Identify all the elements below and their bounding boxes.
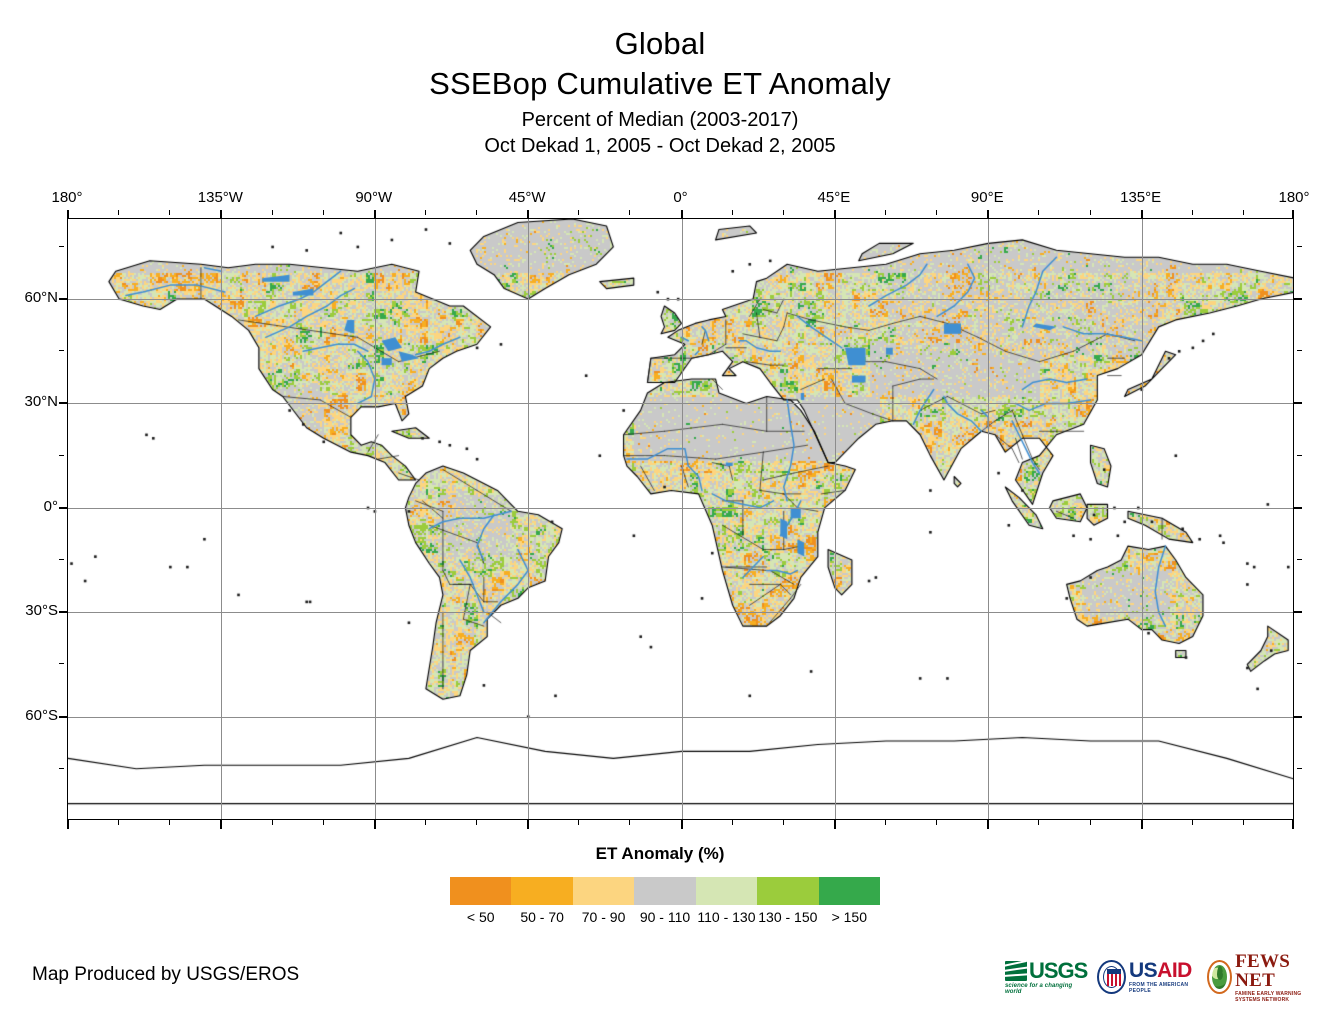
usaid-wordmark-aid: AID (1157, 959, 1192, 982)
legend-label: 70 - 90 (582, 907, 626, 927)
legend-swatch (696, 877, 757, 905)
legend-label: < 50 (467, 907, 495, 927)
legend: ET Anomaly (%) < 5050 - 7070 - 9090 - 11… (0, 843, 1320, 865)
map-ticks-left (59, 218, 67, 820)
fews-net-logo: FEWS NET FAMINE EARLY WARNING SYSTEMS NE… (1207, 952, 1320, 1003)
fews-tagline: FAMINE EARLY WARNING SYSTEMS NETWORK (1235, 991, 1320, 1003)
fews-globe-icon (1207, 960, 1232, 994)
legend-title: ET Anomaly (%) (0, 843, 1320, 865)
anomaly-raster-layer[interactable] (68, 219, 1294, 820)
lon-tick-label: 45°W (509, 189, 546, 207)
usgs-wave-icon (1005, 961, 1027, 981)
legend-swatch (757, 877, 818, 905)
usaid-seal-icon (1097, 960, 1126, 994)
usaid-logo: USAID FROM THE AMERICAN PEOPLE (1097, 960, 1197, 994)
page-subtitle-2: Oct Dekad 1, 2005 - Oct Dekad 2, 2005 (0, 133, 1320, 159)
page-title-line1: Global (0, 24, 1320, 64)
longitude-axis-labels: 180°135°W90°W45°W0°45°E90°E135°E180° (0, 189, 1320, 207)
legend-label: > 150 (832, 907, 867, 927)
legend-label: 50 - 70 (520, 907, 564, 927)
usaid-wordmark-us: US (1129, 959, 1157, 982)
lat-tick-label: 30°N (24, 393, 58, 411)
map-ticks-top (67, 210, 1294, 218)
legend-label: 110 - 130 (697, 907, 755, 927)
lon-tick-label: 180° (51, 189, 82, 207)
legend-class-labels: < 5050 - 7070 - 9090 - 110110 - 130130 -… (450, 907, 880, 927)
lon-tick-label: 135°W (198, 189, 243, 207)
lon-tick-label: 0° (673, 189, 687, 207)
page-subtitle-1: Percent of Median (2003-2017) (0, 107, 1320, 133)
fews-wordmark: FEWS NET (1235, 952, 1320, 990)
map-container[interactable] (67, 218, 1294, 820)
map-frame[interactable] (67, 218, 1294, 820)
lon-tick-label: 135°E (1120, 189, 1161, 207)
usgs-tagline: science for a changing world (1005, 983, 1087, 995)
legend-swatch (450, 877, 511, 905)
legend-color-bar (450, 877, 880, 905)
map-ticks-bottom (67, 820, 1294, 828)
usaid-tagline: FROM THE AMERICAN PEOPLE (1129, 982, 1197, 994)
lat-tick-label: 0° (44, 498, 58, 516)
legend-swatch (634, 877, 695, 905)
legend-label: 130 - 150 (758, 907, 817, 927)
legend-swatch (819, 877, 880, 905)
latitude-axis-labels: 60°N30°N0°30°S60°S (0, 218, 58, 820)
lon-tick-label: 90°W (355, 189, 392, 207)
lon-tick-label: 90°E (971, 189, 1004, 207)
partner-logos: USGS science for a changing world USAID … (1005, 955, 1320, 999)
map-credit: Map Produced by USGS/EROS (32, 963, 299, 987)
usgs-logo: USGS science for a changing world (1005, 960, 1087, 995)
lon-tick-label: 180° (1278, 189, 1309, 207)
usgs-wordmark: USGS (1029, 960, 1087, 982)
lat-tick-label: 60°S (25, 707, 58, 725)
lon-tick-label: 45°E (818, 189, 851, 207)
lat-tick-label: 30°S (25, 602, 58, 620)
legend-label: 90 - 110 (640, 907, 690, 927)
title-block: Global SSEBop Cumulative ET Anomaly Perc… (0, 24, 1320, 159)
lat-tick-label: 60°N (24, 289, 58, 307)
map-ticks-right (1294, 218, 1302, 820)
legend-swatch (573, 877, 634, 905)
page-title-line2: SSEBop Cumulative ET Anomaly (0, 64, 1320, 104)
legend-swatch (511, 877, 572, 905)
